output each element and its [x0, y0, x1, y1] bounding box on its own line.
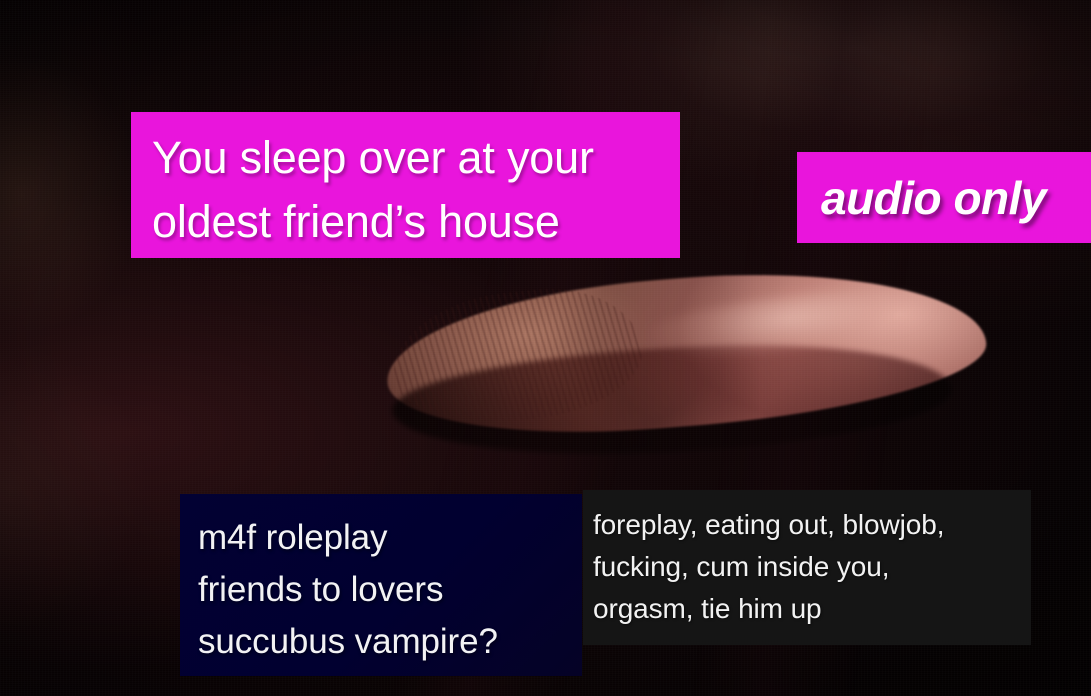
acts-line-1: foreplay, eating out, blowjob,: [593, 504, 1031, 546]
title-banner: You sleep over at your oldest friend’s h…: [131, 112, 680, 258]
video-thumbnail-stage: You sleep over at your oldest friend’s h…: [0, 0, 1091, 696]
tags-panel: m4f roleplay friends to lovers succubus …: [180, 494, 582, 676]
audio-only-badge: audio only: [797, 152, 1091, 243]
tags-line-2: friends to lovers: [198, 564, 582, 616]
acts-line-2: fucking, cum inside you,: [593, 546, 1031, 588]
acts-line-3: orgasm, tie him up: [593, 588, 1031, 630]
tags-line-3: succubus vampire?: [198, 616, 582, 668]
tags-line-1: m4f roleplay: [198, 512, 582, 564]
title-line-2: oldest friend’s house: [152, 190, 659, 254]
audio-only-label: audio only: [821, 175, 1046, 221]
acts-panel: foreplay, eating out, blowjob, fucking, …: [583, 490, 1031, 645]
title-line-1: You sleep over at your: [152, 126, 659, 190]
